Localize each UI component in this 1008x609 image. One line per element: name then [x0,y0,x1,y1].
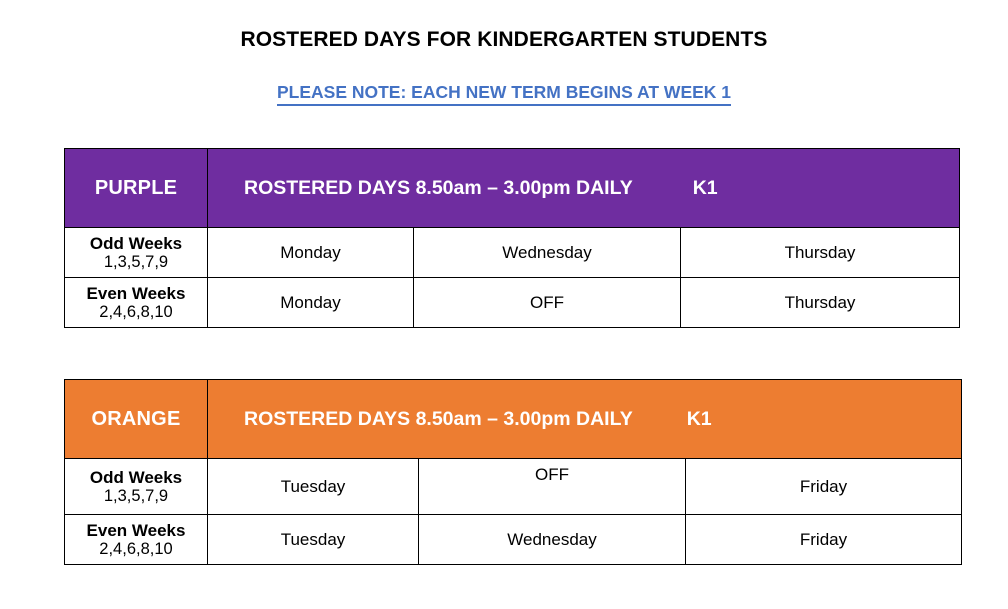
header-details-cell: ROSTERED DAYS 8.50am – 3.00pm DAILY K1 [208,380,962,459]
table-row: Even Weeks 2,4,6,8,10 Tuesday Wednesday … [65,515,962,565]
day-cell: Friday [686,515,962,565]
week-label: Even Weeks [65,284,207,303]
day-cell: Monday [208,228,414,278]
day-cell: OFF [419,459,686,515]
day-cell: Tuesday [208,515,419,565]
group-colour-label: PURPLE [65,149,208,228]
day-cell: OFF [414,278,681,328]
table-row: Odd Weeks 1,3,5,7,9 Tuesday OFF Friday [65,459,962,515]
table-header-row: ORANGE ROSTERED DAYS 8.50am – 3.00pm DAI… [65,380,962,459]
week-numbers: 2,4,6,8,10 [65,540,207,558]
day-cell: Thursday [681,228,960,278]
week-cell: Odd Weeks 1,3,5,7,9 [65,228,208,278]
week-label: Odd Weeks [65,468,207,487]
group-colour-label: ORANGE [65,380,208,459]
week-label: Odd Weeks [65,234,207,253]
week-cell: Even Weeks 2,4,6,8,10 [65,278,208,328]
week-numbers: 1,3,5,7,9 [65,487,207,505]
roster-table-purple: PURPLE ROSTERED DAYS 8.50am – 3.00pm DAI… [64,148,960,328]
page-subtitle: PLEASE NOTE: EACH NEW TERM BEGINS AT WEE… [0,82,1008,106]
week-numbers: 1,3,5,7,9 [65,253,207,271]
page-title: ROSTERED DAYS FOR KINDERGARTEN STUDENTS [0,28,1008,52]
table-row: Odd Weeks 1,3,5,7,9 Monday Wednesday Thu… [65,228,960,278]
day-cell: Wednesday [419,515,686,565]
day-cell: Tuesday [208,459,419,515]
week-cell: Even Weeks 2,4,6,8,10 [65,515,208,565]
day-cell: Friday [686,459,962,515]
table-header-row: PURPLE ROSTERED DAYS 8.50am – 3.00pm DAI… [65,149,960,228]
day-cell: Monday [208,278,414,328]
week-cell: Odd Weeks 1,3,5,7,9 [65,459,208,515]
header-details-cell: ROSTERED DAYS 8.50am – 3.00pm DAILY K1 [208,149,960,228]
class-group-label: K1 [693,177,718,200]
day-cell: Thursday [681,278,960,328]
rostered-hours-label: ROSTERED DAYS 8.50am – 3.00pm DAILY [244,177,633,200]
table-row: Even Weeks 2,4,6,8,10 Monday OFF Thursda… [65,278,960,328]
class-group-label: K1 [687,408,712,431]
page-subtitle-text: PLEASE NOTE: EACH NEW TERM BEGINS AT WEE… [277,82,731,106]
roster-table-orange: ORANGE ROSTERED DAYS 8.50am – 3.00pm DAI… [64,379,962,565]
rostered-hours-label: ROSTERED DAYS 8.50am – 3.00pm DAILY [244,408,633,431]
week-label: Even Weeks [65,521,207,540]
week-numbers: 2,4,6,8,10 [65,303,207,321]
roster-page: ROSTERED DAYS FOR KINDERGARTEN STUDENTS … [0,0,1008,609]
day-cell: Wednesday [414,228,681,278]
